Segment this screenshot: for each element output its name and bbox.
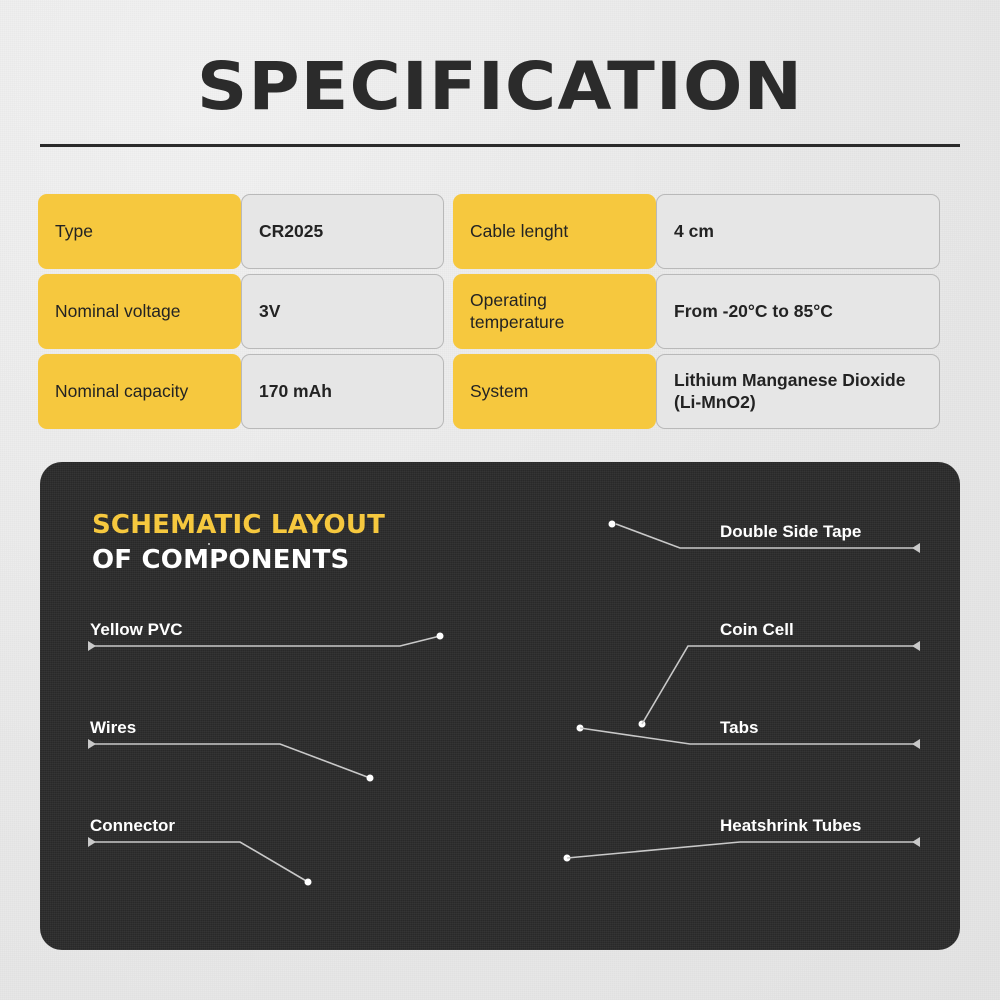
callout-wires: Wires xyxy=(90,718,136,738)
column-gap xyxy=(444,354,453,429)
column-gap xyxy=(444,274,453,349)
spec-label-nominal-voltage: Nominal voltage xyxy=(38,274,241,349)
specification-infographic: SPECIFICATION Type CR2025 Cable lenght 4… xyxy=(0,0,1000,1000)
schematic-heading-line1: SCHEMATIC LAYOUT xyxy=(92,508,385,543)
spec-value-cable-length: 4 cm xyxy=(656,194,940,269)
callout-double-side-tape: Double Side Tape xyxy=(720,522,861,542)
callout-tabs: Tabs xyxy=(720,718,758,738)
callout-yellow-pvc: Yellow PVC xyxy=(90,620,183,640)
column-gap xyxy=(444,194,453,269)
schematic-panel: SCHEMATIC LAYOUT OF COMPONENTS ROMETECH … xyxy=(40,462,960,950)
spec-label-nominal-capacity: Nominal capacity xyxy=(38,354,241,429)
spec-label-cable-length: Cable lenght xyxy=(453,194,656,269)
spec-value-operating-temperature: From -20°C to 85°C xyxy=(656,274,940,349)
callout-coin-cell: Coin Cell xyxy=(720,620,794,640)
spec-value-system: Lithium Manganese Dioxide (Li-MnO2) xyxy=(656,354,940,429)
spec-value-nominal-capacity: 170 mAh xyxy=(241,354,444,429)
schematic-heading: SCHEMATIC LAYOUT OF COMPONENTS xyxy=(92,508,385,577)
spec-label-operating-temperature: Operating temperature xyxy=(453,274,656,349)
spec-label-type: Type xyxy=(38,194,241,269)
callout-heatshrink-tubes: Heatshrink Tubes xyxy=(720,816,861,836)
page-title: SPECIFICATION xyxy=(0,48,1000,125)
spec-value-type: CR2025 xyxy=(241,194,444,269)
spec-label-system: System xyxy=(453,354,656,429)
schematic-heading-line2: OF COMPONENTS xyxy=(92,543,385,578)
spec-value-nominal-voltage: 3V xyxy=(241,274,444,349)
title-divider xyxy=(40,144,960,147)
callout-connector: Connector xyxy=(90,816,175,836)
spec-table: Type CR2025 Cable lenght 4 cm Nominal vo… xyxy=(38,194,962,429)
